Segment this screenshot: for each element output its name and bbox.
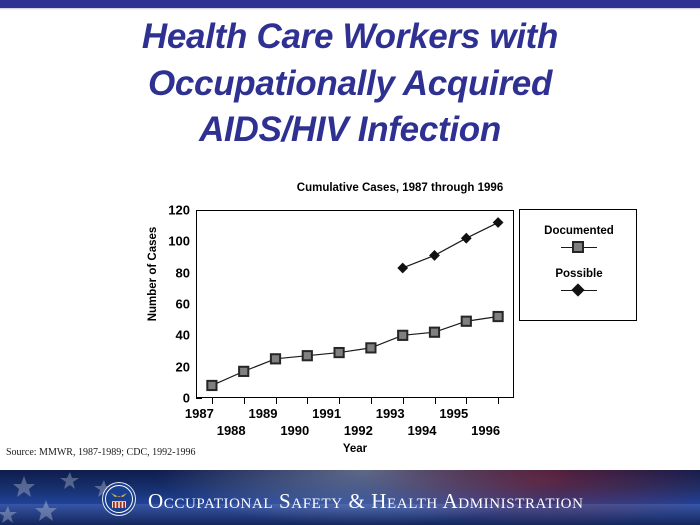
slide-canvas: Health Care Workers with Occupationally … bbox=[0, 0, 700, 525]
legend-entry-possible: Possible bbox=[520, 268, 638, 298]
legend-sample-documented bbox=[520, 241, 638, 255]
x-tick-label: 1995 bbox=[429, 406, 479, 421]
x-tick-label: 1992 bbox=[333, 423, 383, 438]
data-point-square bbox=[366, 343, 375, 352]
chart-figure: Cumulative Cases, 1987 through 1996 Numb… bbox=[130, 182, 650, 467]
data-point-square bbox=[271, 354, 280, 363]
x-tick-label: 1994 bbox=[397, 423, 447, 438]
y-tick-label: 120 bbox=[156, 203, 190, 218]
top-accent-bar bbox=[0, 0, 700, 8]
x-tick-label: 1996 bbox=[461, 423, 511, 438]
page-title-line-3: AIDS/HIV Infection bbox=[0, 107, 700, 154]
data-point-square bbox=[430, 328, 439, 337]
osha-seal-icon bbox=[101, 481, 137, 517]
data-point-square bbox=[207, 381, 216, 390]
page-title-line-2: Occupationally Acquired bbox=[0, 61, 700, 108]
x-tick-mark bbox=[339, 398, 340, 404]
data-point-square bbox=[303, 351, 312, 360]
x-tick-mark bbox=[212, 398, 213, 404]
legend-label-possible: Possible bbox=[520, 268, 638, 280]
y-tick-label: 80 bbox=[156, 265, 190, 280]
x-axis-title: Year bbox=[196, 443, 514, 455]
square-marker-icon bbox=[572, 241, 584, 253]
data-point-square bbox=[494, 312, 503, 321]
series-possible bbox=[397, 217, 503, 273]
data-point-diamond bbox=[461, 233, 472, 244]
data-point-diamond bbox=[429, 250, 440, 261]
chart-legend: Documented Possible bbox=[519, 209, 637, 321]
data-point-square bbox=[239, 367, 248, 376]
x-tick-mark bbox=[466, 398, 467, 404]
x-tick-label: 1988 bbox=[206, 423, 256, 438]
x-tick-mark bbox=[276, 398, 277, 404]
legend-label-documented: Documented bbox=[520, 225, 638, 237]
data-point-square bbox=[335, 348, 344, 357]
data-point-diamond bbox=[397, 263, 408, 274]
x-tick-mark bbox=[403, 398, 404, 404]
x-tick-mark bbox=[435, 398, 436, 404]
top-accent-bar-shadow bbox=[0, 8, 700, 10]
x-tick-label: 1990 bbox=[270, 423, 320, 438]
series-line bbox=[403, 223, 498, 268]
data-point-diamond bbox=[493, 217, 504, 228]
legend-sample-possible bbox=[520, 284, 638, 298]
source-note: Source: MMWR, 1987-1989; CDC, 1992-1996 bbox=[6, 447, 195, 458]
page-title: Health Care Workers with Occupationally … bbox=[0, 14, 700, 154]
x-tick-label: 1993 bbox=[365, 406, 415, 421]
legend-entry-documented: Documented bbox=[520, 225, 638, 255]
y-tick-label: 40 bbox=[156, 328, 190, 343]
y-tick-label: 20 bbox=[156, 359, 190, 374]
x-tick-label: 1991 bbox=[302, 406, 352, 421]
y-tick-label: 60 bbox=[156, 297, 190, 312]
chart-title: Cumulative Cases, 1987 through 1996 bbox=[190, 182, 610, 194]
diamond-marker-icon bbox=[571, 283, 584, 296]
x-tick-mark bbox=[498, 398, 499, 404]
y-tick-label: 100 bbox=[156, 234, 190, 249]
series-line bbox=[212, 317, 498, 386]
x-tick-label: 1987 bbox=[174, 406, 224, 421]
series-documented bbox=[207, 312, 502, 390]
x-tick-label: 1989 bbox=[238, 406, 288, 421]
x-tick-mark bbox=[307, 398, 308, 404]
data-point-square bbox=[398, 331, 407, 340]
x-tick-mark bbox=[371, 398, 372, 404]
y-tick-mark bbox=[196, 398, 202, 399]
y-tick-label: 0 bbox=[156, 391, 190, 406]
page-title-line-1: Health Care Workers with bbox=[0, 14, 700, 61]
data-point-square bbox=[462, 317, 471, 326]
footer-agency-name: Occupational Safety & Health Administrat… bbox=[148, 489, 584, 514]
x-tick-mark bbox=[244, 398, 245, 404]
chart-series-layer bbox=[196, 210, 514, 398]
